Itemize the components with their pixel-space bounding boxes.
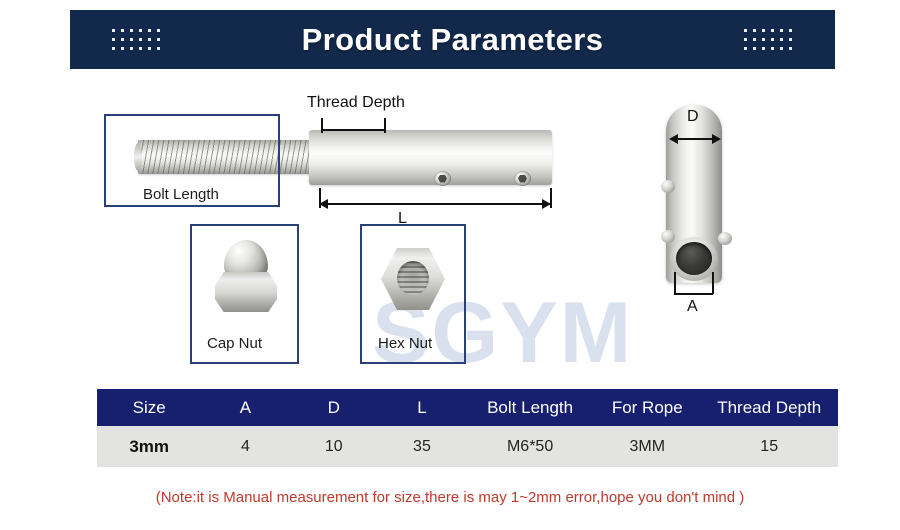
table-row: 3mm 4 10 35 M6*50 3MM 15 (97, 426, 838, 467)
cell-bolt-length: M6*50 (466, 426, 594, 467)
page-title: Product Parameters (302, 22, 604, 58)
table-header-row: Size A D L Bolt Length For Rope Thread D… (97, 389, 838, 426)
overall-length-tick-right (550, 188, 552, 208)
bore-dim-line (674, 293, 713, 295)
overall-length-dim-line (319, 203, 551, 205)
diameter-label: D (687, 108, 699, 126)
column-header-bolt-length: Bolt Length (466, 389, 594, 426)
tube-bore (676, 242, 712, 275)
product-diagram: SGYM Bolt Length Thread Depth L Cap (0, 72, 900, 377)
column-header-l: L (378, 389, 466, 426)
dot-pattern-right-icon (744, 29, 793, 51)
tube-set-screw-3-icon (718, 232, 732, 245)
cell-d: 10 (290, 426, 378, 467)
thread-depth-label: Thread Depth (307, 94, 405, 112)
measurement-note: (Note:it is Manual measurement for size,… (0, 489, 900, 506)
specifications-table: Size A D L Bolt Length For Rope Thread D… (97, 389, 838, 467)
cap-nut-shape (215, 240, 277, 312)
page-header-banner: Product Parameters (70, 10, 835, 69)
cell-l: 35 (378, 426, 466, 467)
column-header-for-rope: For Rope (594, 389, 700, 426)
cell-a: 4 (201, 426, 289, 467)
bore-label: A (687, 298, 698, 316)
column-header-thread-depth: Thread Depth (700, 389, 838, 426)
cap-nut-label: Cap Nut (207, 335, 262, 352)
thread-depth-tick-right (384, 118, 386, 133)
thread-depth-dim-line (321, 129, 385, 131)
tube-set-screw-1-icon (661, 180, 675, 193)
cap-nut-hex-body (215, 272, 277, 312)
diameter-arrow-left (669, 134, 678, 144)
tube-set-screw-2-icon (661, 230, 675, 243)
set-screw-1-icon (434, 171, 451, 186)
column-header-d: D (290, 389, 378, 426)
overall-length-tick-left (319, 188, 321, 208)
cell-size: 3mm (97, 426, 201, 467)
cell-for-rope: 3MM (594, 426, 700, 467)
product-parameters-page: Product Parameters SGYM Bolt Length Thre… (0, 0, 900, 530)
tube-body-image (666, 105, 722, 283)
bolt-length-label: Bolt Length (143, 186, 219, 203)
bore-tick-left (674, 272, 676, 294)
hex-nut-label: Hex Nut (378, 335, 432, 352)
set-screw-2-icon (514, 171, 531, 186)
column-header-size: Size (97, 389, 201, 426)
diameter-arrow-right (712, 134, 721, 144)
thread-depth-tick-left (321, 118, 323, 133)
hex-nut-bore (397, 261, 429, 295)
cell-thread-depth: 15 (700, 426, 838, 467)
column-header-a: A (201, 389, 289, 426)
bore-tick-right (712, 272, 714, 294)
dot-pattern-left-icon (112, 29, 161, 51)
